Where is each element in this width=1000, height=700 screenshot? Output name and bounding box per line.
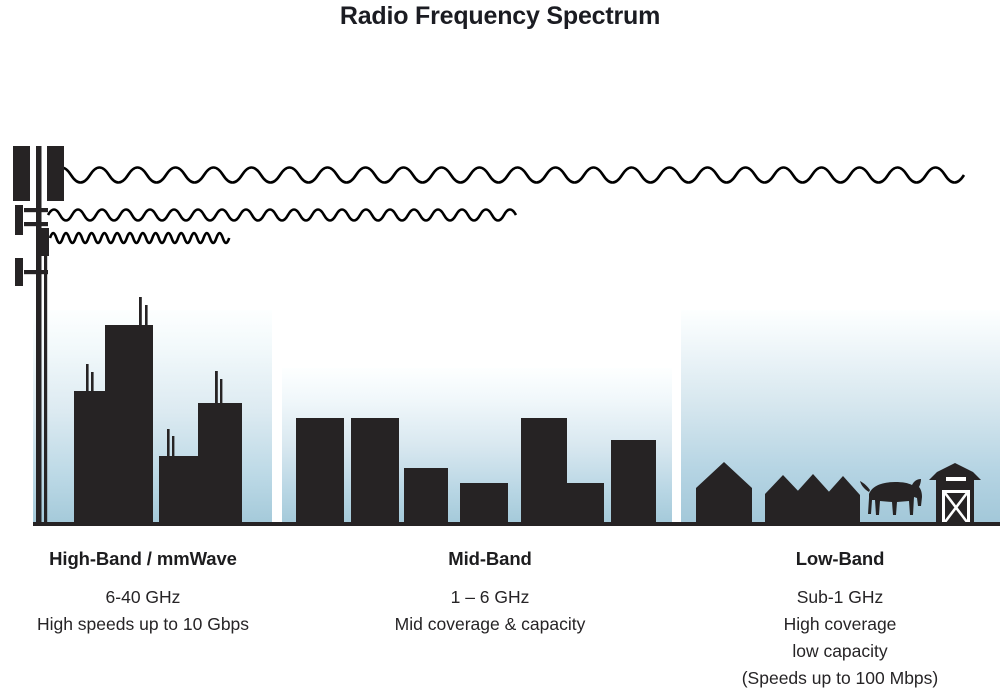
radio-waves <box>48 168 964 244</box>
skyscraper-3 <box>159 456 198 522</box>
skyscraper-2 <box>105 325 153 522</box>
tower-crossbar-upper <box>24 208 48 212</box>
tower-antenna-panel-right-mid <box>41 228 49 256</box>
tower-crossbar-lower <box>24 270 48 274</box>
suburban-block-2 <box>351 418 399 522</box>
skyscraper-spire-3a <box>167 429 170 457</box>
band-desc-line: Sub-1 GHz <box>680 584 1000 611</box>
band-desc-line: low capacity <box>680 638 1000 665</box>
tower-antenna-panel-left-top <box>13 146 30 201</box>
suburban-block-1 <box>296 418 344 522</box>
low-band-wave <box>52 168 964 183</box>
band-title-high: High-Band / mmWave <box>0 548 286 570</box>
band-description-high: 6-40 GHz High speeds up to 10 Gbps <box>0 584 286 638</box>
suburban-block-3 <box>404 468 448 522</box>
infographic-canvas: Radio Frequency Spectrum <box>0 0 1000 700</box>
skyscraper-spire-4b <box>220 379 222 404</box>
band-desc-line: 1 – 6 GHz <box>340 584 640 611</box>
band-desc-line: (Speeds up to 100 Mbps) <box>680 665 1000 692</box>
skyscraper-spire-4a <box>215 371 218 403</box>
tower-antenna-panel-left-low <box>15 258 23 286</box>
high-band-wave <box>50 233 229 243</box>
tower-antenna-panel-right-top <box>47 146 64 201</box>
band-description-low: Sub-1 GHz High coverage low capacity (Sp… <box>680 584 1000 692</box>
band-title-mid: Mid-Band <box>340 548 640 570</box>
skyscraper-spire-3b <box>172 436 174 457</box>
band-desc-line: Mid coverage & capacity <box>340 611 640 638</box>
skyscraper-spire-2a <box>139 297 142 325</box>
skyscraper-spire-2b <box>145 305 148 327</box>
band-caption-mid: Mid-Band 1 – 6 GHz Mid coverage & capaci… <box>340 548 640 638</box>
tower-mast-secondary <box>44 233 47 522</box>
band-caption-high: High-Band / mmWave 6-40 GHz High speeds … <box>0 548 286 638</box>
band-title-low: Low-Band <box>680 548 1000 570</box>
suburban-block-6 <box>567 483 604 522</box>
tower-antenna-panel-left-mid <box>15 205 23 235</box>
band-desc-line: High speeds up to 10 Gbps <box>0 611 286 638</box>
suburban-block-7 <box>611 440 656 522</box>
mid-band-wave <box>48 210 516 221</box>
band-desc-line: High coverage <box>680 611 1000 638</box>
suburban-block-5 <box>521 418 567 522</box>
band-caption-low: Low-Band Sub-1 GHz High coverage low cap… <box>680 548 1000 692</box>
tower-mast-main <box>36 146 42 522</box>
skyscraper-4 <box>198 403 242 522</box>
skyscraper-1 <box>74 391 105 522</box>
ground-baseline <box>33 522 1000 526</box>
tower-crossbar-mid <box>24 222 48 226</box>
suburban-block-4 <box>460 483 508 522</box>
band-desc-line: 6-40 GHz <box>0 584 286 611</box>
band-description-mid: 1 – 6 GHz Mid coverage & capacity <box>340 584 640 638</box>
